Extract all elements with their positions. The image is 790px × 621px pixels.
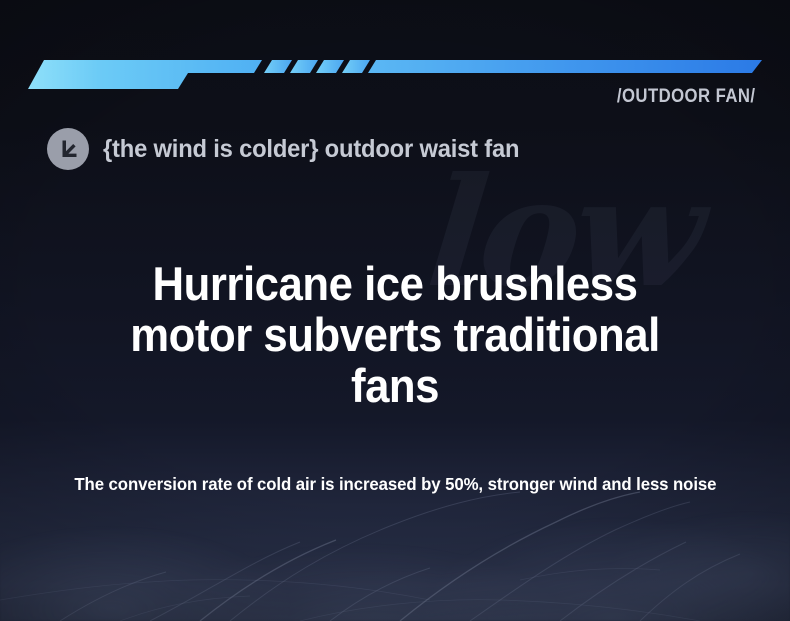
tagline-text: The conversion rate of cold air is incre… xyxy=(74,474,716,495)
headline-line-1: Hurricane ice brushless xyxy=(65,258,725,309)
page-title: Hurricane ice brushless motor subverts t… xyxy=(0,258,790,411)
promo-banner-stage: low xyxy=(0,0,790,621)
headline-line-3: fans xyxy=(65,360,725,411)
arrow-down-left-icon xyxy=(47,128,89,170)
headline-line-2: motor subverts traditional xyxy=(65,309,725,360)
subtitle-row: {the wind is colder} outdoor waist fan xyxy=(47,128,541,170)
subtitle-text: {the wind is colder} outdoor waist fan xyxy=(103,135,519,164)
background-wisp-texture xyxy=(0,430,790,621)
tagline: The conversion rate of cold air is incre… xyxy=(0,474,790,495)
kicker-label: /OUTDOOR FAN/ xyxy=(616,86,755,108)
